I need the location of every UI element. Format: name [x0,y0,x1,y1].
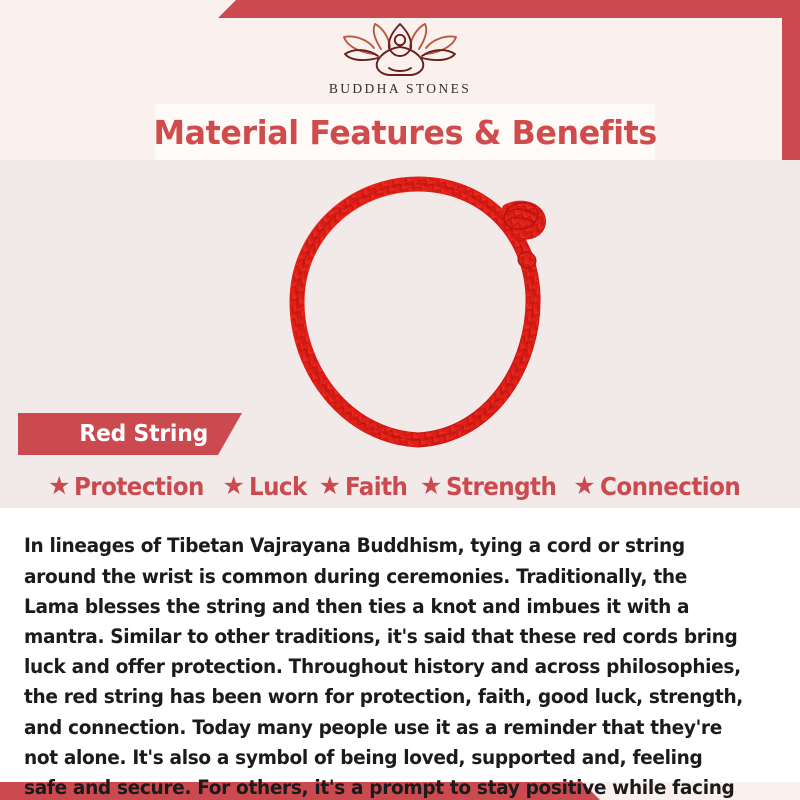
star-icon: ★ [319,474,341,499]
description-text: In lineages of Tibetan Vajrayana Buddhis… [24,531,746,800]
brand-logo: BUDDHA STONES [0,18,800,100]
braided-bracelet-illustration [255,168,575,488]
page-title-band: Material Features & Benefits [155,104,655,160]
infographic-card: BUDDHA STONES Material Features & Benefi… [0,0,800,800]
material-name-label: Red String [79,421,208,447]
benefit-item-faith: ★ Faith [319,472,413,501]
brand-name: BUDDHA STONES [329,81,471,97]
benefit-label: Luck [249,472,307,501]
product-photo-area [0,160,800,515]
benefit-label: Faith [345,472,407,501]
material-name-ribbon: Red String [18,413,242,455]
benefits-list: ★ Protection ★ Luck ★ Faith ★ Strength ★… [20,466,780,506]
star-icon: ★ [48,474,70,499]
benefit-item-connection: ★ Connection [573,472,752,501]
benefit-label: Strength [446,472,556,501]
product-image-red-string-bracelet [255,168,575,488]
description-panel: In lineages of Tibetan Vajrayana Buddhis… [0,508,800,782]
benefit-label: Protection [74,472,204,501]
star-icon: ★ [222,474,244,499]
benefit-item-protection: ★ Protection [48,472,215,501]
benefit-item-strength: ★ Strength [420,472,566,501]
lotus-meditation-icon [334,18,466,80]
star-icon: ★ [573,474,595,499]
frame-top-accent-bar [218,0,800,18]
benefit-item-luck: ★ Luck [222,472,311,501]
star-icon: ★ [420,474,442,499]
page-title: Material Features & Benefits [153,113,656,152]
benefit-label: Connection [600,472,740,501]
